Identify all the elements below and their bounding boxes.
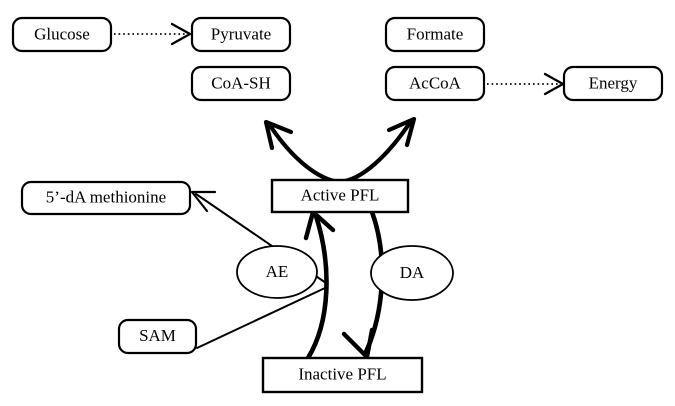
edge-accoa-to-energy: [487, 74, 563, 94]
node-da: DA: [371, 246, 453, 300]
active-pfl-upper-left-curve: [271, 127, 340, 182]
node-energy: Energy: [564, 67, 662, 100]
methionine-label: 5’-dA methionine: [46, 187, 166, 206]
node-methionine: 5’-dA methionine: [22, 182, 190, 214]
edge-sam-to-ae: [197, 288, 325, 348]
active-pfl-upper-right-curve: [340, 124, 409, 182]
ae-label: AE: [266, 262, 289, 281]
diagram-canvas: Glucose Pyruvate CoA-SH Formate AcCoA En…: [0, 0, 675, 406]
ae-to-methionine-arrowhead: [192, 192, 215, 211]
node-glucose: Glucose: [13, 18, 111, 51]
edge-active-pfl-to-upper-right: [340, 119, 414, 182]
edge-active-pfl-to-upper-left: [266, 122, 340, 182]
energy-label: Energy: [589, 73, 638, 92]
node-pyruvate: Pyruvate: [192, 18, 290, 51]
node-active-pfl: Active PFL: [272, 180, 408, 212]
node-coash: CoA-SH: [192, 67, 290, 100]
coash-label: CoA-SH: [211, 73, 271, 92]
pathway-diagram: Glucose Pyruvate CoA-SH Formate AcCoA En…: [0, 0, 675, 406]
sam-label: SAM: [139, 326, 176, 345]
pyruvate-label: Pyruvate: [211, 24, 271, 43]
da-label: DA: [400, 263, 425, 282]
node-formate: Formate: [386, 18, 484, 51]
active-to-inactive-arrowhead: [344, 330, 372, 357]
node-accoa: AcCoA: [386, 67, 484, 100]
node-sam: SAM: [119, 320, 196, 353]
inactive-pfl-label: Inactive PFL: [298, 364, 386, 383]
formate-label: Formate: [407, 24, 464, 43]
accoa-label: AcCoA: [409, 73, 462, 92]
active-pfl-label: Active PFL: [301, 185, 380, 204]
glucose-label: Glucose: [34, 24, 90, 43]
edge-glucose-to-pyruvate: [114, 24, 190, 44]
node-inactive-pfl: Inactive PFL: [263, 358, 422, 392]
node-ae: AE: [237, 246, 317, 298]
sam-to-ae-line: [197, 288, 325, 348]
